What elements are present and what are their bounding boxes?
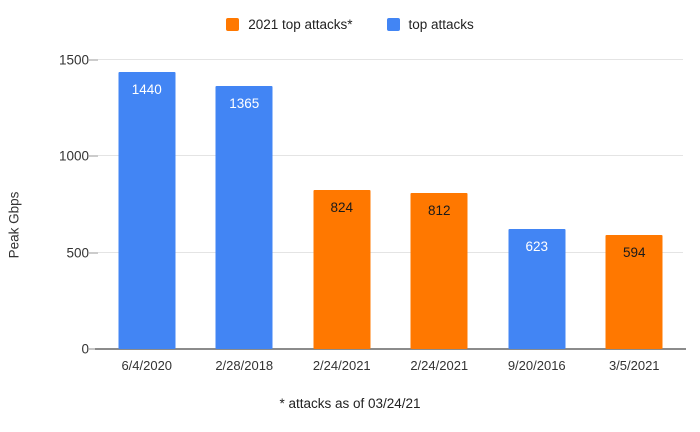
bar-slot: 812 (391, 60, 489, 349)
bar-value-label: 824 (313, 201, 370, 215)
bar-value-label: 594 (606, 246, 663, 260)
y-axis-title: Peak Gbps (7, 192, 22, 259)
bar[interactable]: 1440 (118, 72, 175, 349)
bar[interactable]: 623 (508, 229, 565, 349)
y-axis-tick-mark (89, 349, 98, 350)
y-axis-tick-label: 1500 (19, 53, 89, 67)
y-axis-tick-mark (89, 60, 98, 61)
bar-value-label: 1365 (216, 97, 273, 111)
legend-label: 2021 top attacks* (248, 18, 352, 32)
chart-legend: 2021 top attacks*top attacks (0, 18, 700, 32)
bar-slot: 594 (586, 60, 684, 349)
bar-slot: 1440 (98, 60, 196, 349)
bar-value-label: 623 (508, 240, 565, 254)
x-axis-tick-label: 2/24/2021 (391, 358, 489, 373)
y-axis-tick-label: 500 (19, 246, 89, 260)
x-axis-tick-label: 2/24/2021 (293, 358, 391, 373)
legend-item[interactable]: top attacks (387, 18, 474, 32)
y-axis-tick-label: 1000 (19, 150, 89, 164)
bar-slot: 623 (488, 60, 586, 349)
x-axis-labels: 6/4/20202/28/20182/24/20212/24/20219/20/… (98, 358, 683, 373)
bar-value-label: 1440 (118, 83, 175, 97)
legend-swatch-icon (226, 18, 239, 31)
bar[interactable]: 594 (606, 235, 663, 349)
legend-swatch-icon (387, 18, 400, 31)
x-axis-tick-label: 3/5/2021 (586, 358, 684, 373)
bar[interactable]: 1365 (216, 86, 273, 349)
bar-series-group: 14401365824812623594 (98, 60, 683, 349)
bar[interactable]: 824 (313, 190, 370, 349)
bar-chart: 2021 top attacks*top attacks 05001000150… (0, 0, 700, 432)
y-axis-tick-mark (89, 252, 98, 253)
x-axis-tick-label: 2/28/2018 (196, 358, 294, 373)
bar-slot: 1365 (196, 60, 294, 349)
chart-footnote: * attacks as of 03/24/21 (0, 396, 700, 411)
legend-item[interactable]: 2021 top attacks* (226, 18, 352, 32)
x-axis-tick-label: 9/20/2016 (488, 358, 586, 373)
bar[interactable]: 812 (411, 193, 468, 349)
y-axis-tick-mark (89, 156, 98, 157)
bar-slot: 824 (293, 60, 391, 349)
y-axis-tick-label: 0 (19, 342, 89, 356)
x-axis-tick-label: 6/4/2020 (98, 358, 196, 373)
legend-label: top attacks (409, 18, 474, 32)
bar-value-label: 812 (411, 204, 468, 218)
